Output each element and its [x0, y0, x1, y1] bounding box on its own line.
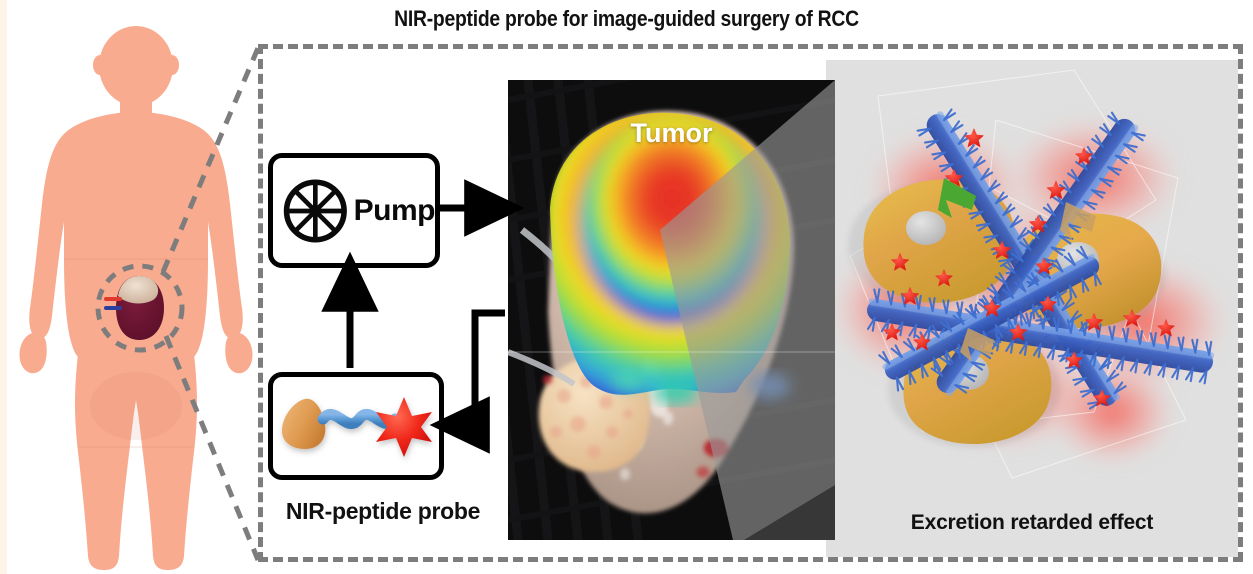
renal-vein [104, 306, 122, 310]
intraoperative-fluorescence-image [508, 80, 835, 540]
excretion-panel: Excretion retarded effect [826, 60, 1238, 557]
nanofiber-illustration [826, 60, 1238, 500]
pump-label: Pump [354, 194, 435, 228]
human-body-silhouette [8, 8, 266, 570]
probe-box[interactable] [268, 372, 444, 480]
body-svg [8, 8, 266, 570]
probe-targeting-head [282, 399, 325, 449]
nir-peptide-probe-icon [273, 377, 439, 475]
left-edge-strip [0, 0, 7, 574]
cell-nucleus [906, 211, 946, 245]
figure-canvas: NIR-peptide probe for image-guided surge… [0, 0, 1253, 574]
probe-caption: NIR-peptide probe [258, 498, 508, 525]
pump-box[interactable]: Pump [268, 153, 440, 268]
pump-wheel-icon [281, 174, 350, 248]
excretion-panel-caption: Excretion retarded effect [826, 511, 1238, 535]
renal-artery [104, 297, 122, 301]
